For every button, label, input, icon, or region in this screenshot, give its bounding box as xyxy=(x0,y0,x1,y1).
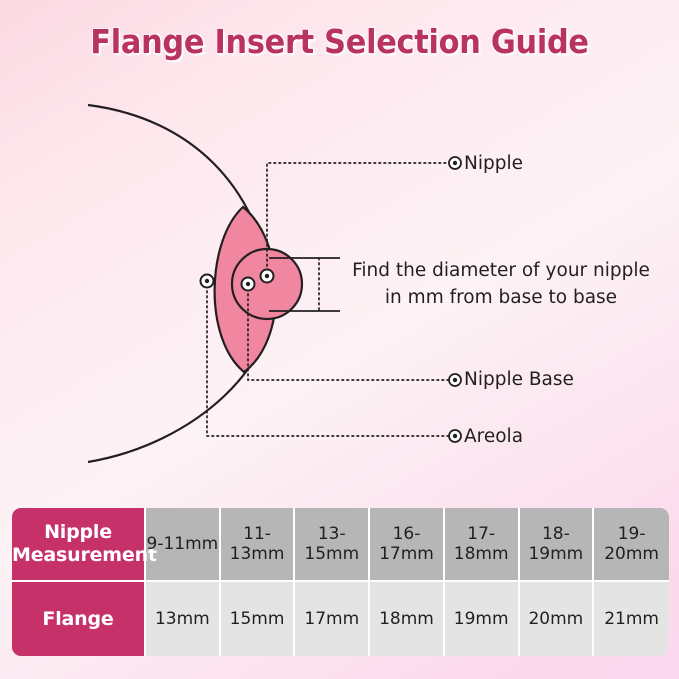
row-header-line-2: Measurement xyxy=(12,544,144,567)
nipple-measurement-cell-5: 17-18mm xyxy=(445,508,520,582)
nipple-measurement-cell-7: 19-20mm xyxy=(594,508,669,582)
nipple-measurement-cell-6: 18-19mm xyxy=(520,508,595,582)
row-header-flange-label: Flange xyxy=(12,608,144,631)
nipple-base-marker xyxy=(242,278,255,291)
flange-cell-3: 17mm xyxy=(295,582,370,656)
nipple-measurement-cell-2: 11-13mm xyxy=(221,508,296,582)
label-nipple: Nipple xyxy=(464,152,523,176)
nipple-measurement-cell-3: 13-15mm xyxy=(295,508,370,582)
diagram-svg xyxy=(0,0,679,500)
areola-edge-marker xyxy=(201,275,214,288)
flange-cell-6: 20mm xyxy=(520,582,595,656)
flange-cell-4: 18mm xyxy=(370,582,445,656)
flange-sizing-table: Nipple Measurement 9-11mm 11-13mm 13-15m… xyxy=(12,508,669,656)
flange-cell-7: 21mm xyxy=(594,582,669,656)
breast-anatomy-diagram: Nipple Nipple Base Areola Find the diame… xyxy=(0,0,679,500)
row-header-line-1: Nipple xyxy=(12,521,144,544)
flange-insert-selection-guide-page: Flange Insert Selection Guide xyxy=(0,0,679,679)
instruction-line-2: in mm from base to base xyxy=(340,285,662,312)
flange-cell-1: 13mm xyxy=(146,582,221,656)
flange-cell-2: 15mm xyxy=(221,582,296,656)
nipple-base-label-marker xyxy=(449,374,461,386)
sizing-table-wrapper: Nipple Measurement 9-11mm 11-13mm 13-15m… xyxy=(12,508,669,656)
label-areola: Areola xyxy=(464,425,523,449)
nipple-measurement-cell-1: 9-11mm xyxy=(146,508,221,582)
table-row-flange: Flange 13mm 15mm 17mm 18mm 19mm 20mm 21m… xyxy=(12,582,669,656)
table-row-nipple-measurement: Nipple Measurement 9-11mm 11-13mm 13-15m… xyxy=(12,508,669,582)
row-header-nipple-measurement: Nipple Measurement xyxy=(12,508,146,582)
label-nipple-base: Nipple Base xyxy=(464,368,574,392)
nipple-label-marker xyxy=(449,157,461,169)
row-header-flange: Flange xyxy=(12,582,146,656)
nipple-tip-marker xyxy=(261,270,274,283)
measurement-instruction: Find the diameter of your nipple in mm f… xyxy=(340,258,662,312)
areola-label-marker xyxy=(449,430,461,442)
instruction-line-1: Find the diameter of your nipple xyxy=(340,258,662,285)
nipple-measurement-cell-4: 16-17mm xyxy=(370,508,445,582)
flange-cell-5: 19mm xyxy=(445,582,520,656)
